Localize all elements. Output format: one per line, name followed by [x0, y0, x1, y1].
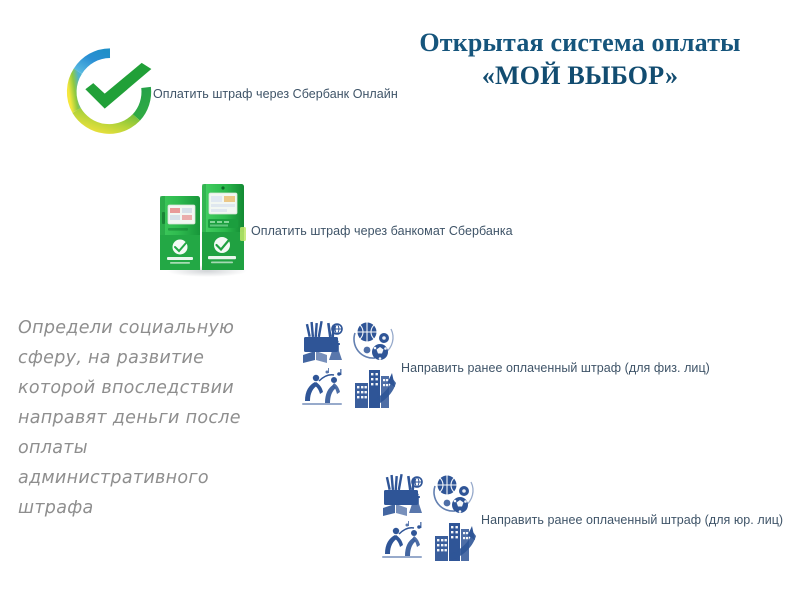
city-buildings-icon[interactable] — [351, 367, 397, 411]
social-icon-cluster-legal[interactable] — [377, 470, 477, 564]
city-buildings-icon[interactable] — [431, 520, 477, 564]
note-line: административного — [18, 463, 268, 493]
caption-sberbank-atm[interactable]: Оплатить штраф через банкомат Сбербанка — [251, 224, 513, 238]
note-line: Определи социальную — [18, 313, 268, 343]
sberbank-atm-image[interactable] — [152, 172, 262, 278]
note-line: штрафа — [18, 493, 268, 523]
sport-balls-icon[interactable] — [431, 470, 477, 518]
caption-redirect-fine-legal[interactable]: Направить ранее оплаченный штраф (для юр… — [481, 513, 783, 527]
note-line: оплаты — [18, 433, 268, 463]
page-title: Открытая система оплаты «МОЙ ВЫБОР» — [380, 26, 780, 93]
social-sphere-note: Определи социальную сферу, на развитие к… — [18, 313, 268, 523]
title-line-2: «МОЙ ВЫБОР» — [380, 59, 780, 92]
culture-arts-icon[interactable] — [297, 367, 347, 411]
sport-balls-icon[interactable] — [351, 317, 397, 365]
caption-sberbank-online[interactable]: Оплатить штраф через Сбербанк Онлайн — [153, 87, 398, 101]
social-icon-cluster-individual[interactable] — [297, 317, 397, 411]
education-icon[interactable] — [377, 470, 427, 518]
education-icon[interactable] — [297, 317, 347, 365]
culture-arts-icon[interactable] — [377, 520, 427, 564]
note-line: направят деньги после — [18, 403, 268, 433]
caption-redirect-fine-individual[interactable]: Направить ранее оплаченный штраф (для фи… — [401, 361, 710, 375]
title-line-1: Открытая система оплаты — [380, 26, 780, 59]
note-line: которой впоследствии — [18, 373, 268, 403]
sberbank-logo-icon[interactable] — [66, 47, 154, 135]
note-line: сферу, на развитие — [18, 343, 268, 373]
slide-canvas: Открытая система оплаты «МОЙ ВЫБОР» — [0, 0, 800, 600]
